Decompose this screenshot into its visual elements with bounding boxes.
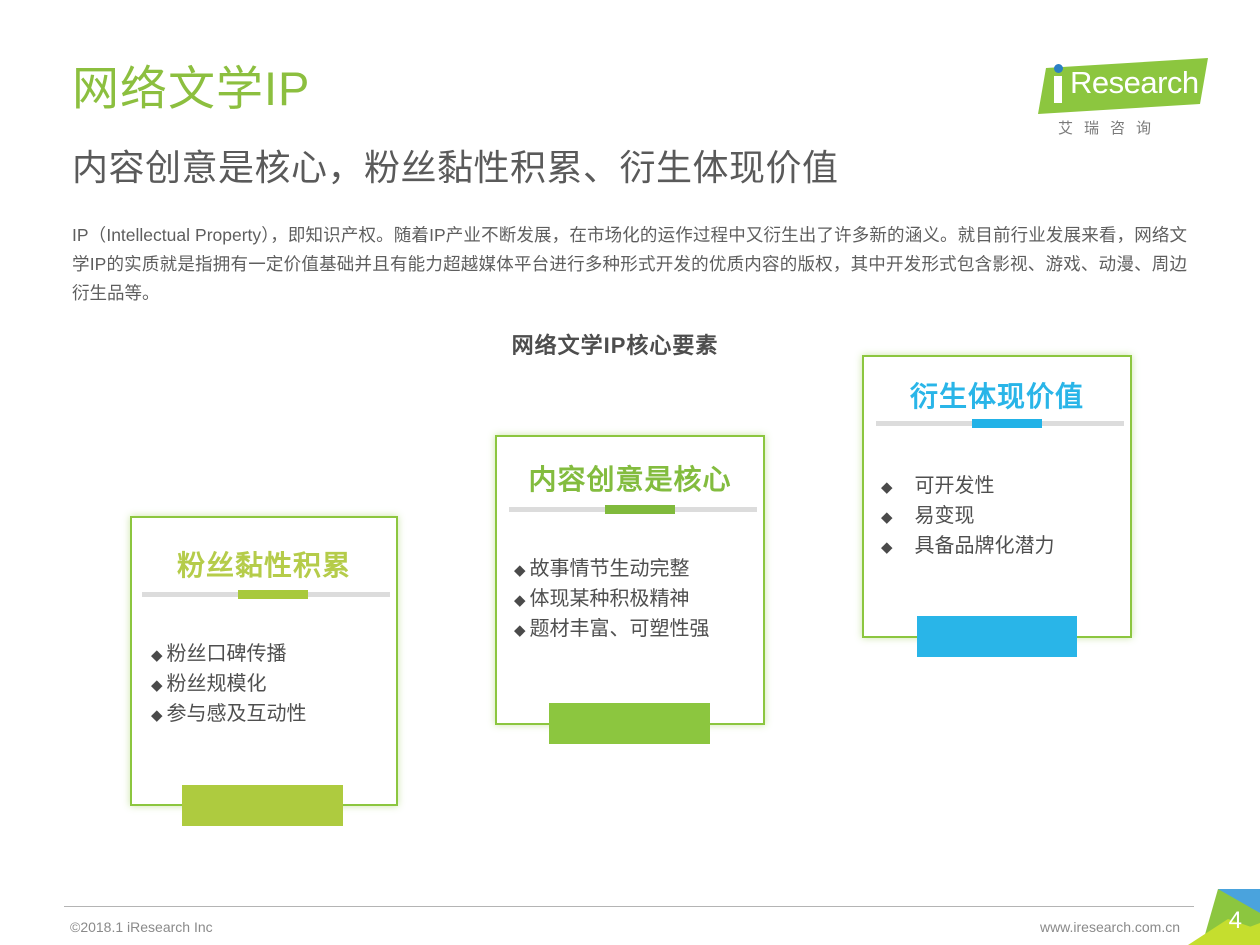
- list-item-label: 粉丝规模化: [167, 670, 267, 699]
- card-divider: [509, 507, 757, 512]
- diamond-bullet-icon: ◆: [151, 701, 163, 730]
- diamond-bullet-icon: ◆: [151, 671, 163, 700]
- card-divider-accent: [972, 419, 1042, 428]
- list-item-label: 参与感及互动性: [167, 700, 307, 729]
- diamond-bullet-icon: ◆: [514, 586, 526, 615]
- card-base-bar: [549, 703, 710, 744]
- card-divider-accent: [605, 505, 675, 514]
- page-subtitle: 内容创意是核心，粉丝黏性积累、衍生体现价值: [72, 146, 839, 189]
- page-number: 4: [1229, 907, 1242, 935]
- list-item: ◆ 参与感及互动性: [151, 700, 307, 730]
- card-divider: [876, 421, 1124, 426]
- card-base-bar: [182, 785, 343, 826]
- card-divider: [142, 592, 390, 597]
- slide-canvas: 网络文学IP 内容创意是核心，粉丝黏性积累、衍生体现价值 Research 艾瑞…: [0, 0, 1260, 945]
- diamond-bullet-icon: ◆: [881, 473, 893, 502]
- list-item-label: 体现某种积极精神: [530, 585, 690, 614]
- list-item-label: 可开发性: [915, 472, 995, 501]
- list-item: ◆ 题材丰富、可塑性强: [514, 615, 710, 645]
- diamond-bullet-icon: ◆: [514, 616, 526, 645]
- card-fan-stickiness: 粉丝黏性积累 ◆ 粉丝口碑传播 ◆ 粉丝规模化 ◆ 参与感及互动性: [130, 516, 398, 806]
- footer-copyright: ©2018.1 iResearch Inc: [70, 919, 213, 935]
- list-item-label: 故事情节生动完整: [530, 555, 690, 584]
- list-item-label: 易变现: [915, 502, 975, 531]
- body-paragraph: IP（Intellectual Property），即知识产权。随着IP产业不断…: [72, 221, 1187, 308]
- diamond-bullet-icon: ◆: [151, 641, 163, 670]
- card-base-bar: [917, 616, 1077, 657]
- list-item: ◆ 体现某种积极精神: [514, 585, 710, 615]
- card-bullet-list: ◆ 粉丝口碑传播 ◆ 粉丝规模化 ◆ 参与感及互动性: [151, 640, 307, 730]
- list-item: ◆ 粉丝口碑传播: [151, 640, 307, 670]
- footer-website: www.iresearch.com.cn: [1040, 919, 1180, 935]
- card-divider-accent: [238, 590, 308, 599]
- card-title: 衍生体现价值: [864, 375, 1130, 415]
- page-title: 网络文学IP: [72, 62, 310, 116]
- card-content-creativity: 内容创意是核心 ◆ 故事情节生动完整 ◆ 体现某种积极精神 ◆ 题材丰富、可塑性…: [495, 435, 765, 725]
- logo-subtitle: 艾瑞咨询: [1058, 117, 1162, 138]
- list-item-label: 具备品牌化潜力: [915, 532, 1055, 561]
- list-item: ◆ 可开发性: [881, 472, 1055, 502]
- diamond-bullet-icon: ◆: [881, 503, 893, 532]
- card-derivative-value: 衍生体现价值 ◆ 可开发性 ◆ 易变现 ◆ 具备品牌化潜力: [862, 355, 1132, 638]
- card-bullet-list: ◆ 可开发性 ◆ 易变现 ◆ 具备品牌化潜力: [881, 472, 1055, 562]
- list-item: ◆ 具备品牌化潜力: [881, 532, 1055, 562]
- logo-dot-icon: [1054, 64, 1063, 73]
- card-title: 粉丝黏性积累: [132, 544, 396, 584]
- list-item: ◆ 故事情节生动完整: [514, 555, 710, 585]
- list-item: ◆ 易变现: [881, 502, 1055, 532]
- list-item-label: 粉丝口碑传播: [167, 640, 287, 669]
- list-item-label: 题材丰富、可塑性强: [530, 615, 710, 644]
- footer-divider: [64, 906, 1194, 907]
- list-item: ◆ 粉丝规模化: [151, 670, 307, 700]
- iresearch-logo: Research 艾瑞咨询: [1038, 58, 1208, 142]
- diamond-bullet-icon: ◆: [514, 556, 526, 585]
- card-title: 内容创意是核心: [497, 458, 763, 498]
- card-bullet-list: ◆ 故事情节生动完整 ◆ 体现某种积极精神 ◆ 题材丰富、可塑性强: [514, 555, 710, 645]
- logo-letter-i: [1054, 76, 1062, 103]
- corner-decoration-icon: [1188, 889, 1260, 945]
- diamond-bullet-icon: ◆: [881, 533, 893, 562]
- logo-wordmark: Research: [1070, 67, 1199, 98]
- logo-mark: Research: [1038, 58, 1208, 114]
